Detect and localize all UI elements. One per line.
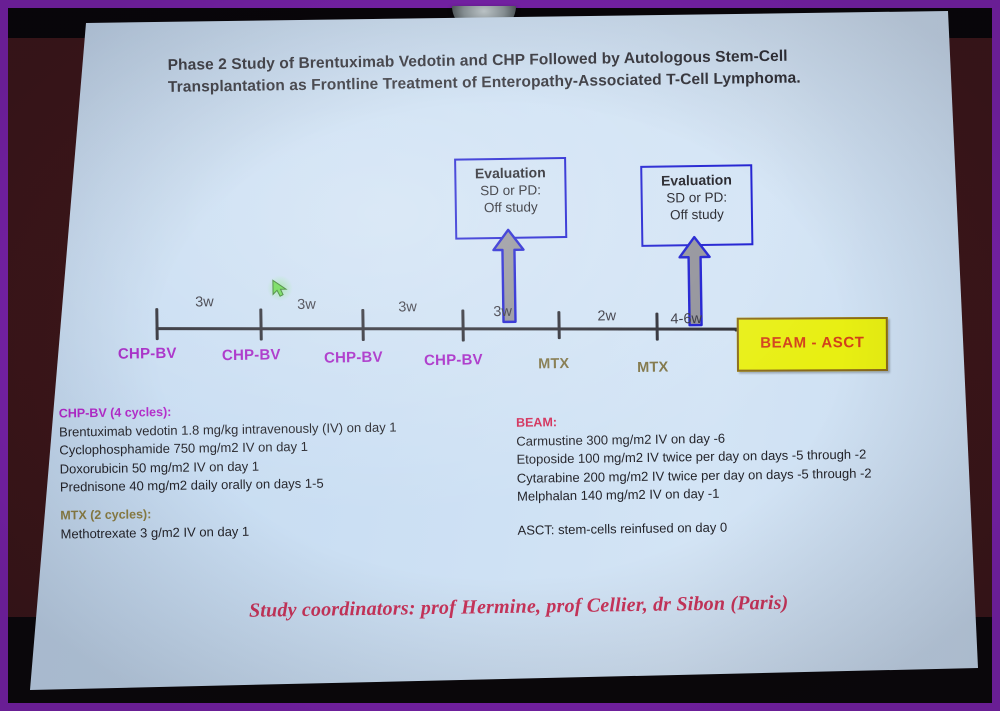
timeline-marker-chp-4: CHP-BV [424,351,483,369]
projected-slide: Phase 2 Study of Brentuximab Vedotin and… [0,0,1000,711]
interval-label-2: 3w [297,297,316,313]
interval-label-3: 3w [398,299,417,315]
interval-label-1: 3w [195,294,214,310]
slide-content: Phase 2 Study of Brentuximab Vedotin and… [0,0,1000,711]
evaluation-box-1-line2: Off study [457,198,565,217]
timeline-tick-1 [155,308,158,340]
timeline-tick-6 [655,313,658,341]
regimen-mtx-line-1: Methotrexate 3 g/m2 IV on day 1 [60,522,249,543]
timeline-tick-5 [557,311,560,339]
evaluation-box-2-line1: SD or PD: [643,188,751,207]
timeline-marker-chp-2: CHP-BV [222,346,281,364]
timeline-marker-mtx-2: MTX [637,360,668,376]
regimen-chp-line-4: Prednisone 40 mg/m2 daily orally on days… [60,474,398,498]
regimen-asct-line-1: ASCT: stem-cells reinfused on day 0 [517,519,727,541]
regimen-block-asct: ASCT: stem-cells reinfused on day 0 [517,519,727,541]
evaluation-box-2-title: Evaluation [642,171,750,190]
regimen-block-chp: CHP-BV (4 cycles): Brentuximab vedotin 1… [59,400,398,497]
timeline-marker-chp-1: CHP-BV [118,345,177,363]
timeline-tick-2 [259,309,262,341]
evaluation-box-2-line2: Off study [643,205,751,224]
interval-label-5: 2w [597,308,616,324]
page-title: Phase 2 Study of Brentuximab Vedotin and… [168,45,869,99]
interval-label-4: 3w [493,304,512,320]
interval-label-6: 4-6w [670,311,702,327]
beam-asct-box: BEAM - ASCT [737,317,888,372]
timeline-marker-chp-3: CHP-BV [324,349,383,367]
beam-asct-label: BEAM - ASCT [739,319,886,368]
photo-frame: Phase 2 Study of Brentuximab Vedotin and… [0,0,1000,711]
study-coordinators: Study coordinators: prof Hermine, prof C… [209,591,829,623]
timeline-tick-3 [361,309,364,341]
timeline-marker-mtx-1: MTX [538,356,569,372]
laser-pointer-cursor-icon [271,279,289,297]
timeline-tick-4 [461,310,464,342]
regimen-beam-line-4: Melphalan 140 mg/m2 IV on day -1 [517,482,872,506]
regimen-block-beam: BEAM: Carmustine 300 mg/m2 IV on day -6 … [516,409,872,507]
evaluation-box-1-line1: SD or PD: [456,181,564,200]
evaluation-box-1-title: Evaluation [456,164,564,183]
regimen-block-mtx: MTX (2 cycles): Methotrexate 3 g/m2 IV o… [60,504,249,544]
